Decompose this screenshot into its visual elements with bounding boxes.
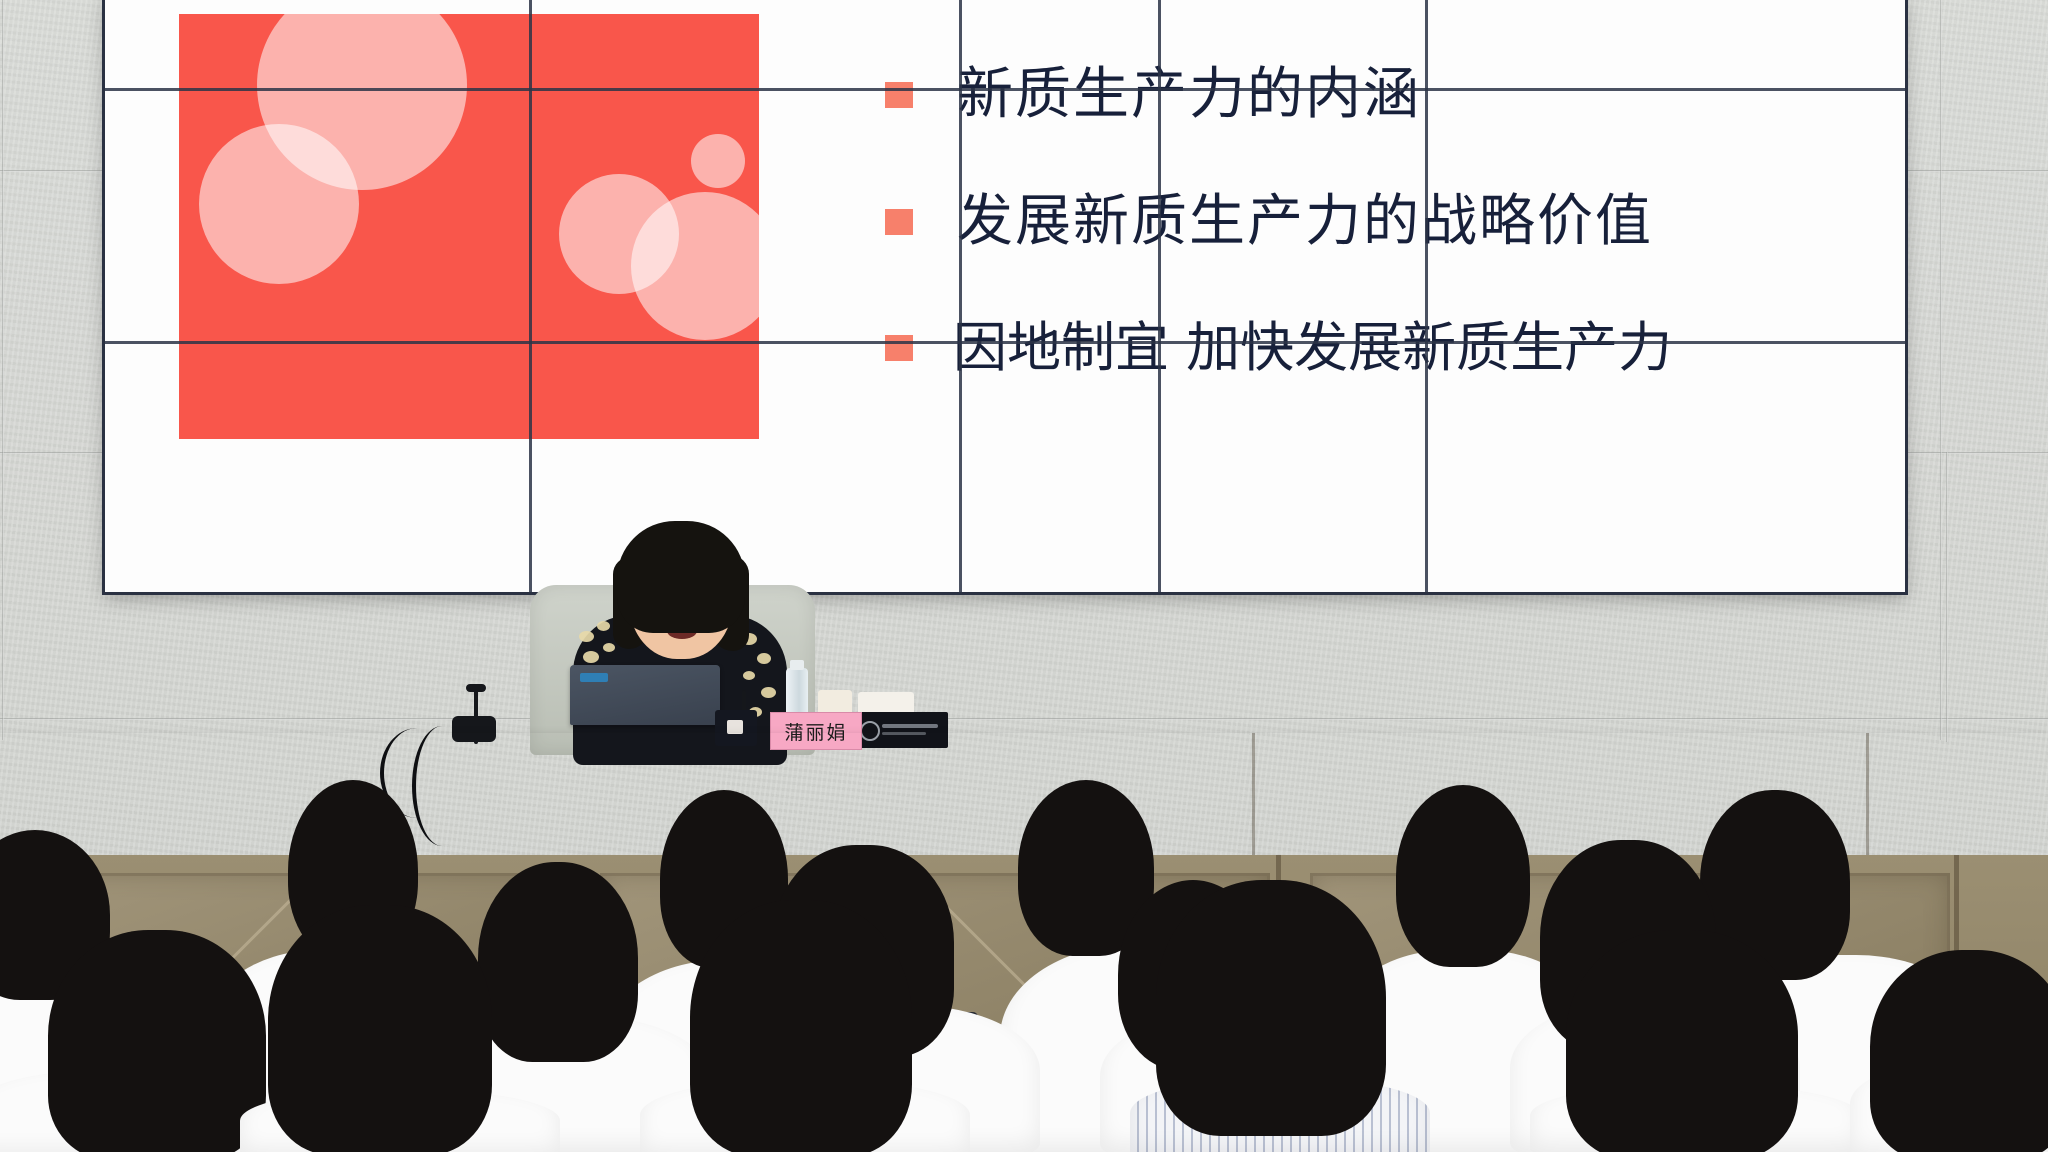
bullet-row: 发展新质生产力的战略价值 xyxy=(885,193,1875,252)
red-bubbles-block xyxy=(179,14,759,439)
bullet-square-icon xyxy=(885,209,913,235)
screen-bezel-seam xyxy=(529,0,532,592)
embroidery xyxy=(743,671,755,680)
device-button[interactable] xyxy=(727,720,743,734)
rostrum-seam xyxy=(1252,733,1255,863)
laptop-logo xyxy=(580,673,608,682)
embroidery xyxy=(603,643,615,652)
projection-screen: 新质生产力的内涵 发展新质生产力的战略价值 因地制宜 加快发展新质生产力 xyxy=(105,0,1905,592)
attendee-head xyxy=(1566,930,1798,1152)
laptop xyxy=(570,665,720,725)
bullet-text: 发展新质生产力的战略价值 xyxy=(957,193,1653,252)
wall-seam xyxy=(2,0,4,740)
wall-seam xyxy=(1940,0,1942,740)
water-bottle xyxy=(786,668,808,716)
screen-bezel-seam xyxy=(105,88,1905,91)
bullet-row: 因地制宜 加快发展新质生产力 xyxy=(885,320,1875,377)
embroidery xyxy=(583,651,599,663)
attendee-head xyxy=(1870,950,2048,1152)
wall-seam xyxy=(1946,452,1948,742)
screen-bezel-seam xyxy=(1425,0,1428,592)
embroidery xyxy=(597,621,610,631)
slide-bullet-list: 新质生产力的内涵 发展新质生产力的战略价值 因地制宜 加快发展新质生产力 xyxy=(885,66,1875,444)
bullet-square-icon xyxy=(885,335,913,361)
attendee-head xyxy=(1396,785,1530,967)
attendee-head xyxy=(690,900,912,1152)
attendee-head xyxy=(1156,880,1386,1136)
attendee-head xyxy=(48,930,266,1152)
lecture-hall-photo: 新质生产力的内涵 发展新质生产力的战略价值 因地制宜 加快发展新质生产力 xyxy=(0,0,2048,1152)
embroidery xyxy=(757,653,771,664)
bullet-text: 因地制宜 加快发展新质生产力 xyxy=(953,320,1672,377)
slide-canvas: 新质生产力的内涵 发展新质生产力的战略价值 因地制宜 加快发展新质生产力 xyxy=(105,0,1905,592)
bottle-cap xyxy=(790,660,804,670)
screen-bezel-seam xyxy=(1158,0,1161,592)
attendee-head xyxy=(268,905,492,1152)
bullet-row: 新质生产力的内涵 xyxy=(885,66,1875,125)
rostrum-seam xyxy=(1866,733,1869,863)
speaker-hair-top xyxy=(617,521,745,633)
bubble-shape xyxy=(199,124,359,284)
embroidery xyxy=(579,631,594,642)
bullet-square-icon xyxy=(885,82,913,108)
bubble-shape xyxy=(691,134,745,188)
screen-bezel-seam xyxy=(105,341,1905,344)
screen-bezel-seam xyxy=(959,0,962,592)
embroidery xyxy=(761,687,776,698)
bullet-text: 新质生产力的内涵 xyxy=(957,66,1421,125)
microphone-head xyxy=(466,684,486,692)
wall-seam xyxy=(0,718,2048,720)
attendee-head xyxy=(478,862,638,1062)
